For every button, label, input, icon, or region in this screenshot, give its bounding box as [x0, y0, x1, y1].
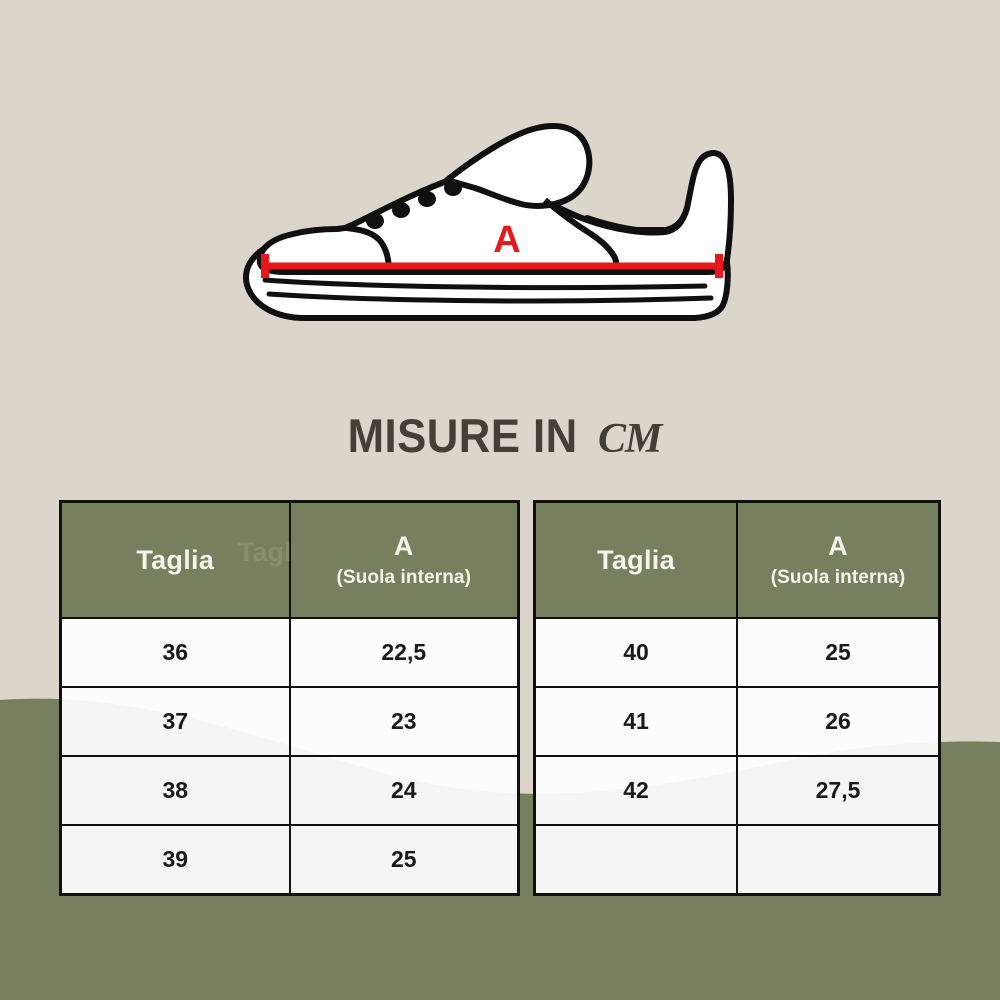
table-row: 41 26	[535, 687, 940, 756]
cell-length: 24	[290, 756, 519, 825]
table-row	[535, 825, 940, 895]
cell-size-empty	[535, 825, 738, 895]
cell-length-empty	[737, 825, 940, 895]
cell-size: 39	[61, 825, 290, 895]
shoe-body	[246, 126, 731, 318]
size-chart-page: A MISURE INCM Taglia Taglia A (Suola int…	[0, 0, 1000, 1000]
cell-length: 25	[290, 825, 519, 895]
cell-size: 41	[535, 687, 738, 756]
cell-length: 27,5	[737, 756, 940, 825]
cell-length: 23	[290, 687, 519, 756]
header-size: Taglia Taglia	[61, 502, 290, 619]
header-size: Taglia	[535, 502, 738, 619]
table-row: 36 22,5	[61, 618, 519, 687]
table-row: 37 23	[61, 687, 519, 756]
table-row: 42 27,5	[535, 756, 940, 825]
header-length-sublabel: (Suola interna)	[291, 567, 518, 589]
table-row: 38 24	[61, 756, 519, 825]
header-length-label: A	[738, 531, 938, 562]
page-title: MISURE INCM	[0, 408, 1000, 463]
header-size-label: Taglia	[62, 545, 289, 576]
cell-size: 36	[61, 618, 290, 687]
size-table-left: Taglia Taglia A (Suola interna) 36 22,5 …	[59, 500, 520, 896]
table-row: 39 25	[61, 825, 519, 895]
header-length-sublabel: (Suola interna)	[738, 567, 938, 589]
cell-length: 22,5	[290, 618, 519, 687]
cell-size: 38	[61, 756, 290, 825]
size-table-right: Taglia A (Suola interna) 40 25 41 26 42 …	[533, 500, 941, 896]
cell-length: 26	[737, 687, 940, 756]
table-header-row: Taglia A (Suola interna)	[535, 502, 940, 619]
cell-size: 40	[535, 618, 738, 687]
cell-length: 25	[737, 618, 940, 687]
measure-label-a: A	[493, 219, 520, 261]
cell-size: 42	[535, 756, 738, 825]
table-row: 40 25	[535, 618, 940, 687]
title-main-text: MISURE IN	[347, 408, 577, 463]
header-length: A (Suola interna)	[290, 502, 519, 619]
cell-size: 37	[61, 687, 290, 756]
sneaker-illustration: A	[225, 100, 755, 350]
header-length-label: A	[291, 531, 518, 562]
table-header-row: Taglia Taglia A (Suola interna)	[61, 502, 519, 619]
title-unit-text: CM	[598, 415, 661, 463]
header-size-label: Taglia	[536, 545, 736, 576]
header-length: A (Suola interna)	[737, 502, 940, 619]
